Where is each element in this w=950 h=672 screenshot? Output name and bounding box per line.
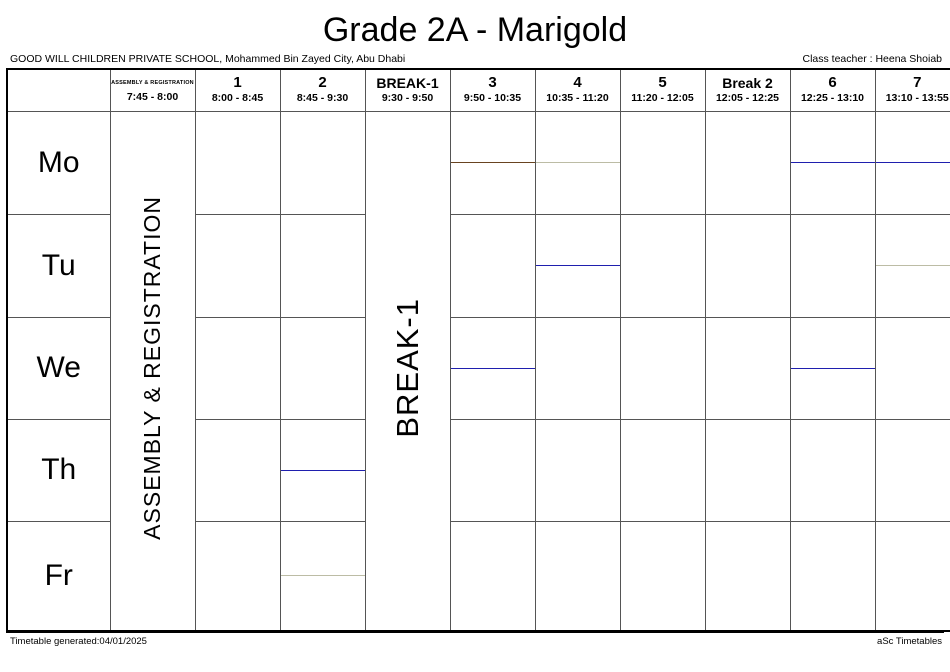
period-time: 12:05 - 12:25: [706, 91, 790, 106]
header-col-1: 18:00 - 8:45: [195, 69, 280, 111]
period-time: 10:35 - 11:20: [536, 91, 620, 106]
lesson-cell[interactable]: P.ERamya: [620, 214, 705, 317]
lesson-cell[interactable]: MathHeena: [280, 214, 365, 317]
lesson-cell[interactable]: Arabic Native1Group 1Hayda AbdeltawwabIs…: [790, 317, 875, 419]
lesson-count: 1: [355, 575, 361, 576]
period-number: 5: [621, 74, 705, 91]
header-col-break-2: Break 212:05 - 12:25: [705, 69, 790, 111]
lesson-cell[interactable]: LibrarySara: [790, 214, 875, 317]
page-title: Grade 2A - Marigold: [0, 0, 950, 50]
header-col-5: 511:20 - 12:05: [620, 69, 705, 111]
lesson-stack: Arabic Native1Group 1Hayda AbdeltawwabAr…: [281, 470, 365, 471]
period-time: 7:45 - 8:00: [111, 90, 195, 105]
period-time: 13:10 - 13:55: [876, 91, 950, 106]
lesson-cell[interactable]: SciHeena: [450, 419, 535, 521]
lesson[interactable]: Islamic Studies Native1Group 1Merfat: [536, 162, 620, 163]
lesson-cell[interactable]: [535, 521, 620, 631]
lesson-subject: Arabic Native: [540, 265, 616, 266]
lesson[interactable]: 8:50 - 9:40Islamic Studies Native1Group …: [281, 575, 365, 576]
period-number: 2: [281, 74, 365, 91]
lesson-cell[interactable]: SciHeena: [875, 317, 950, 419]
lesson-cell[interactable]: Arabic Native1Group 1Hayda AbdeltawwabAr…: [450, 317, 535, 419]
period-time: 9:50 - 10:35: [451, 91, 535, 106]
lesson-cell[interactable]: MathHeena: [620, 317, 705, 419]
period-number: 6: [791, 74, 875, 91]
timetable-body: MoASSEMBLY & REGISTRATIONEnglish Reading…: [7, 111, 950, 631]
lesson-cell[interactable]: 8:50 - 9:40Islamic Studies Native1Group …: [280, 521, 365, 631]
break-header-label: BREAK-1: [366, 75, 450, 91]
lesson-subject: Arabic Native: [795, 162, 871, 163]
break-header-label: Break 2: [706, 75, 790, 91]
lesson-count: 1: [610, 265, 616, 266]
timetable-grid: ASSEMBLY & REGISTRATION7:45 - 8:0018:00 …: [6, 68, 950, 632]
lesson-count: 1: [525, 368, 531, 369]
break-1-label: BREAK-1: [390, 298, 426, 438]
lesson-cell[interactable]: 10:00 - 10:50MathHeena: [450, 521, 535, 631]
lesson-count: 1: [610, 162, 616, 163]
lesson-cell[interactable]: MathHeena: [790, 419, 875, 521]
lesson-count: 1: [865, 368, 871, 369]
header-col-6: 612:25 - 13:10: [790, 69, 875, 111]
assembly-registration-label: ASSEMBLY & REGISTRATION: [139, 196, 166, 540]
day-label-fr: Fr: [7, 521, 110, 631]
lesson-cell[interactable]: Guided Reading Entire ClassHeena: [620, 419, 705, 521]
lesson-stack: Islamic Studies Native1Group 1MerfatMSCS…: [536, 162, 620, 163]
lesson[interactable]: Arabic Native1Group 1Hayda Abdeltawwab: [791, 162, 875, 163]
lesson-stack: Islamic Studies Native1Group 1MerfatArab…: [876, 265, 950, 266]
period-time: 8:00 - 8:45: [196, 91, 280, 106]
lesson-cell[interactable]: Islamic Studies Native1Group 1MerfatMSCS…: [535, 111, 620, 214]
lesson-subject: Arabic Native: [455, 368, 531, 369]
lesson-subject: Islamic Studies Native: [880, 265, 950, 266]
lesson-subject: Arabic Native: [795, 368, 871, 369]
break-2-cell-we: [705, 317, 790, 419]
lesson-cell[interactable]: MathHeena: [620, 111, 705, 214]
lesson-cell[interactable]: English ReadingHeena: [195, 419, 280, 521]
lesson-cell[interactable]: MSCS/C1Group 1KhawlaIslamic Non Native1G…: [450, 111, 535, 214]
lesson-cell[interactable]: Islamic Studies Native1Group 1MerfatArab…: [875, 214, 950, 317]
lesson[interactable]: Arabic Native1Group 1Hayda Abdeltawwab: [451, 368, 535, 369]
lesson-stack: Arabic Native1Group 1Hayda AbdeltawwabAr…: [876, 162, 950, 163]
break-2-cell-th: [705, 419, 790, 521]
day-label-we: We: [7, 317, 110, 419]
lesson-cell[interactable]: Arabic Native1Group 1Hayda AbdeltawwabAr…: [875, 111, 950, 214]
lesson-stack: Arabic Native1Group 1Hayda AbdeltawwabAr…: [451, 368, 535, 369]
lesson[interactable]: Arabic Native1Group 1Hayda Abdeltawwab: [876, 162, 950, 163]
lesson-cell[interactable]: Thrive & ConnectHeena: [450, 214, 535, 317]
lesson-stack: 8:50 - 9:40Islamic Studies Native1Group …: [281, 575, 365, 576]
product-name: aSc Timetables: [877, 636, 942, 647]
lesson-stack: Arabic Native1Group 1Hayda AbdeltawwabUr…: [791, 162, 875, 163]
timetable-row-mo: MoASSEMBLY & REGISTRATIONEnglish Reading…: [7, 111, 950, 214]
timetable-page: Grade 2A - Marigold GOOD WILL CHILDREN P…: [0, 0, 950, 672]
lesson-cell[interactable]: [790, 521, 875, 631]
subheader: GOOD WILL CHILDREN PRIVATE SCHOOL, Moham…: [0, 50, 950, 68]
lesson[interactable]: Arabic Native1Group 1Hayda Abdeltawwab: [791, 368, 875, 369]
lesson-subject: Islamic Studies Native: [285, 575, 361, 576]
lesson-cell[interactable]: ICTHeena: [280, 317, 365, 419]
lesson-cell[interactable]: P.ERamya: [535, 419, 620, 521]
lesson-cell[interactable]: 8:00 - 8:50English Big WritingHeena: [195, 521, 280, 631]
break-2-cell-fr: [705, 521, 790, 631]
lesson-cell[interactable]: Arabic Native1Group 1Hayda AbdeltawwabUr…: [790, 111, 875, 214]
header-col-7: 713:10 - 13:55: [875, 69, 950, 111]
lesson-stack: Arabic Native1Group 1Hayda AbdeltawwabIs…: [791, 368, 875, 369]
period-time: 11:20 - 12:05: [621, 91, 705, 106]
lesson-cell[interactable]: English Big WritingHeena: [195, 317, 280, 419]
school-name: GOOD WILL CHILDREN PRIVATE SCHOOL, Moham…: [10, 53, 405, 65]
lesson-cell[interactable]: English ReadingHeena: [195, 111, 280, 214]
day-label-th: Th: [7, 419, 110, 521]
day-label-mo: Mo: [7, 111, 110, 214]
period-time: 9:30 - 9:50: [366, 91, 450, 106]
header-corner: [7, 69, 110, 111]
header-col-4: 410:35 - 11:20: [535, 69, 620, 111]
lesson-subject: Arabic Native: [285, 470, 361, 471]
day-label-tu: Tu: [7, 214, 110, 317]
class-teacher: Class teacher : Heena Shoiab: [803, 53, 943, 65]
lesson[interactable]: MSCS/C1Group 1Khawla: [451, 162, 535, 163]
header-col-2: 28:45 - 9:30: [280, 69, 365, 111]
generated-date: Timetable generated:04/01/2025: [10, 636, 147, 647]
header-col-3: 39:50 - 10:35: [450, 69, 535, 111]
lesson-cell[interactable]: SciHeena: [280, 111, 365, 214]
break-2-cell-tu: [705, 214, 790, 317]
lesson-subject: Arabic Native: [880, 162, 950, 163]
assembly-header-label: ASSEMBLY & REGISTRATION: [111, 76, 195, 90]
lesson-count: 1: [865, 162, 871, 163]
lesson-cell[interactable]: Arabic Native1Group 1Hayda AbdeltawwabUr…: [535, 214, 620, 317]
timetable-header-row: ASSEMBLY & REGISTRATION7:45 - 8:0018:00 …: [7, 69, 950, 111]
lesson-subject: Islamic Studies Native: [540, 162, 616, 163]
break-2-cell-mo: [705, 111, 790, 214]
header-col-break-1: BREAK-19:30 - 9:50: [365, 69, 450, 111]
lesson[interactable]: Islamic Studies Native1Group 1Merfat: [876, 265, 950, 266]
period-number: 7: [876, 74, 950, 91]
lesson-cell[interactable]: Arabic Native1Group 1Hayda AbdeltawwabAr…: [280, 419, 365, 521]
lesson-cell[interactable]: [620, 521, 705, 631]
period-number: 3: [451, 74, 535, 91]
lesson-cell[interactable]: [875, 521, 950, 631]
assembly-registration-cell: ASSEMBLY & REGISTRATION: [110, 111, 195, 631]
period-time: 12:25 - 13:10: [791, 91, 875, 106]
lesson-count: 1: [525, 162, 531, 163]
lesson-cell[interactable]: English Grammar-WritingHeena: [195, 214, 280, 317]
break-1-cell: BREAK-1: [365, 111, 450, 631]
lesson[interactable]: Arabic Native1Group 1Hayda Abdeltawwab: [536, 265, 620, 266]
footer: Timetable generated:04/01/2025 aSc Timet…: [0, 633, 950, 647]
lesson-stack: MSCS/C1Group 1KhawlaIslamic Non Native1G…: [451, 162, 535, 163]
period-number: 1: [196, 74, 280, 91]
lesson-cell[interactable]: ClubHeena: [875, 419, 950, 521]
header-col-assembly-registration: ASSEMBLY & REGISTRATION7:45 - 8:00: [110, 69, 195, 111]
lesson[interactable]: Arabic Native1Group 1Hayda Abdeltawwab: [281, 470, 365, 471]
lesson-subject: MSCS/C: [467, 162, 518, 163]
lesson-count: 1: [355, 470, 361, 471]
lesson-cell[interactable]: ARTKiran Naveed: [535, 317, 620, 419]
period-time: 8:45 - 9:30: [281, 91, 365, 106]
lesson-stack: Arabic Native1Group 1Hayda AbdeltawwabUr…: [536, 265, 620, 266]
period-number: 4: [536, 74, 620, 91]
